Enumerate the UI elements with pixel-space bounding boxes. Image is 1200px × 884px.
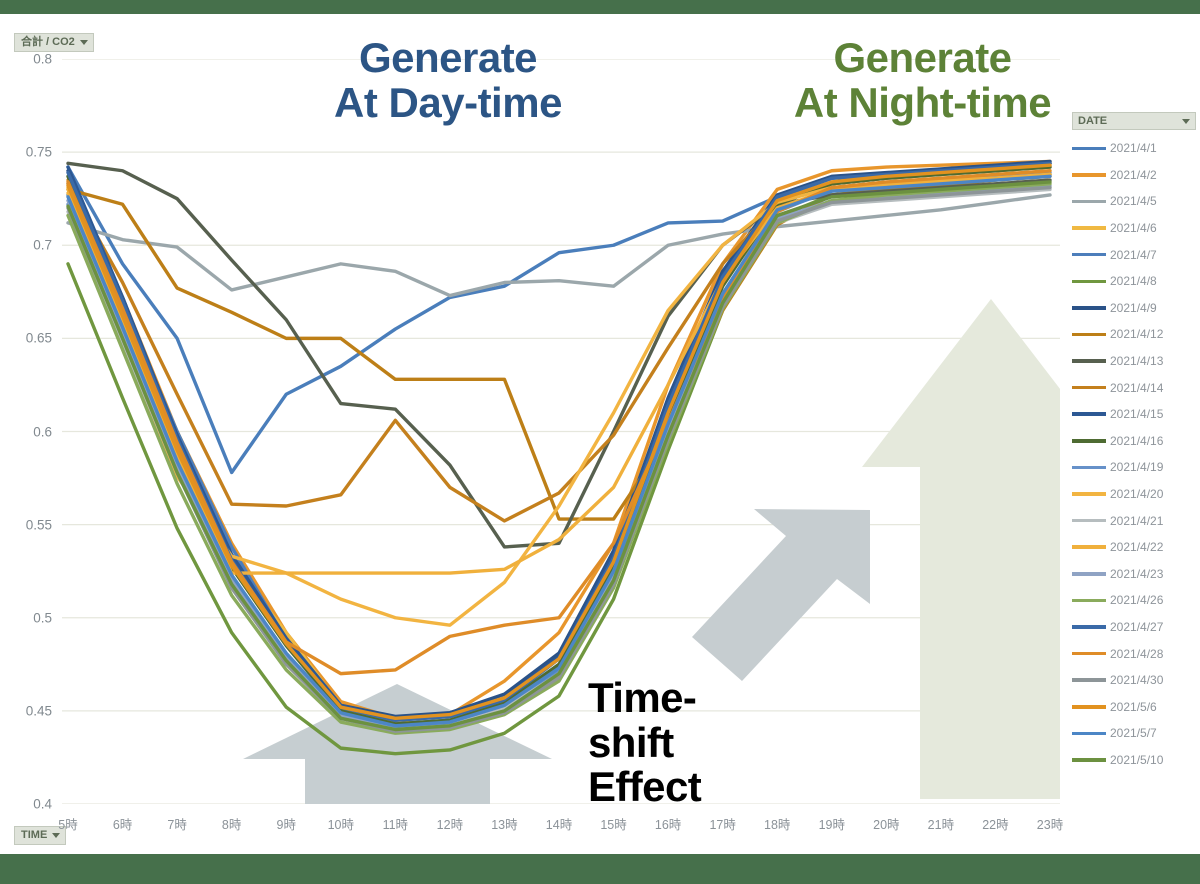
- legend-color-swatch: [1072, 147, 1106, 151]
- y-axis-tick-label: 0.6: [4, 424, 52, 439]
- legend-color-swatch: [1072, 306, 1106, 310]
- legend-item[interactable]: 2021/4/12: [1072, 321, 1196, 348]
- x-axis-tick-label: 22時: [982, 814, 1008, 833]
- x-axis-tick-label: 23時: [1037, 814, 1063, 833]
- x-axis-tick-label: 15時: [600, 814, 626, 833]
- legend-color-swatch: [1072, 519, 1106, 523]
- annotation-generate-day: Generate At Day-time: [268, 36, 628, 125]
- x-axis-tick-label: 19時: [819, 814, 845, 833]
- legend-item[interactable]: 2021/4/2: [1072, 162, 1196, 189]
- legend-title: DATE: [1078, 115, 1107, 127]
- x-axis-tick-label: 17時: [709, 814, 735, 833]
- legend-color-swatch: [1072, 333, 1106, 337]
- legend-item-label: 2021/4/1: [1110, 141, 1157, 155]
- legend-color-swatch: [1072, 466, 1106, 470]
- legend-item[interactable]: 2021/4/6: [1072, 215, 1196, 242]
- legend-item[interactable]: 2021/4/26: [1072, 587, 1196, 614]
- y-axis-tick-label: 0.7: [4, 238, 52, 253]
- legend-color-swatch: [1072, 625, 1106, 629]
- legend-item[interactable]: 2021/4/8: [1072, 268, 1196, 295]
- legend-item-label: 2021/4/28: [1110, 647, 1163, 661]
- y-axis-tick-label: 0.55: [4, 517, 52, 532]
- legend-color-swatch: [1072, 705, 1106, 709]
- legend-item[interactable]: 2021/4/30: [1072, 667, 1196, 694]
- legend-color-swatch: [1072, 572, 1106, 576]
- legend-color-swatch: [1072, 359, 1106, 363]
- y-axis-tick-label: 0.5: [4, 610, 52, 625]
- chart-svg: [62, 59, 1060, 804]
- legend-item-label: 2021/4/2: [1110, 168, 1157, 182]
- legend-item-label: 2021/5/6: [1110, 700, 1157, 714]
- legend-item-label: 2021/5/7: [1110, 726, 1157, 740]
- x-axis-tick-label: 16時: [655, 814, 681, 833]
- y-axis-tick-label: 0.75: [4, 145, 52, 160]
- legend-color-swatch: [1072, 280, 1106, 284]
- pivot-field-time-button[interactable]: TIME: [14, 826, 66, 845]
- legend-color-swatch: [1072, 492, 1106, 496]
- y-axis-tick-label: 0.4: [4, 797, 52, 812]
- legend-color-swatch: [1072, 758, 1106, 762]
- legend-color-swatch: [1072, 439, 1106, 443]
- legend-item[interactable]: 2021/4/15: [1072, 401, 1196, 428]
- series-line: [68, 163, 1050, 547]
- legend-item-label: 2021/4/19: [1110, 460, 1163, 474]
- legend-item-label: 2021/4/21: [1110, 514, 1163, 528]
- y-axis-tick-label: 0.8: [4, 52, 52, 67]
- legend-item[interactable]: 2021/5/10: [1072, 747, 1196, 774]
- y-axis-tick-label: 0.45: [4, 703, 52, 718]
- legend-color-swatch: [1072, 412, 1106, 416]
- y-axis-tick-label: 0.65: [4, 331, 52, 346]
- excel-chart-sheet: 合計 / CO2 TIME 0.40.450.50.550.60.650.70.…: [0, 14, 1200, 854]
- legend-item[interactable]: 2021/4/20: [1072, 481, 1196, 508]
- legend-item-label: 2021/4/15: [1110, 407, 1163, 421]
- chevron-down-icon: [80, 40, 88, 45]
- legend-item-label: 2021/4/26: [1110, 593, 1163, 607]
- x-axis-tick-label: 18時: [764, 814, 790, 833]
- legend-color-swatch: [1072, 599, 1106, 603]
- legend-item-label: 2021/4/8: [1110, 274, 1157, 288]
- pivot-field-time-label: TIME: [21, 829, 47, 842]
- x-axis-tick-label: 11時: [383, 814, 408, 833]
- legend-item[interactable]: 2021/4/7: [1072, 241, 1196, 268]
- legend-item[interactable]: 2021/4/5: [1072, 188, 1196, 215]
- legend-item-label: 2021/4/9: [1110, 301, 1157, 315]
- annotation-generate-night: Generate At Night-time: [750, 36, 1095, 125]
- diagonal-up-right-arrow-shape: [692, 509, 870, 681]
- legend-item[interactable]: 2021/4/14: [1072, 374, 1196, 401]
- legend-item[interactable]: 2021/5/6: [1072, 693, 1196, 720]
- legend-color-swatch: [1072, 386, 1106, 390]
- chevron-down-icon: [1182, 119, 1190, 124]
- x-axis-tick-label: 12時: [437, 814, 463, 833]
- legend-item-label: 2021/4/30: [1110, 673, 1163, 687]
- legend-color-swatch: [1072, 678, 1106, 682]
- chevron-down-icon: [52, 833, 60, 838]
- x-axis-tick-label: 7時: [167, 814, 186, 833]
- legend-item-label: 2021/4/7: [1110, 248, 1157, 262]
- legend-color-swatch: [1072, 545, 1106, 549]
- legend-color-swatch: [1072, 173, 1106, 177]
- legend-item[interactable]: 2021/4/27: [1072, 614, 1196, 641]
- legend-item[interactable]: 2021/4/9: [1072, 295, 1196, 322]
- legend-color-swatch: [1072, 732, 1106, 736]
- x-axis-tick-label: 8時: [222, 814, 241, 833]
- x-axis-tick-label: 20時: [873, 814, 899, 833]
- legend-field-date-button[interactable]: DATE: [1072, 112, 1196, 130]
- legend-color-swatch: [1072, 652, 1106, 656]
- up-arrow-shape-large: [862, 299, 1060, 799]
- legend-item-label: 2021/4/14: [1110, 381, 1163, 395]
- chart-legend: DATE 2021/4/12021/4/22021/4/52021/4/6202…: [1072, 112, 1196, 773]
- legend-entry-list: 2021/4/12021/4/22021/4/52021/4/62021/4/7…: [1072, 135, 1196, 773]
- x-axis-tick-label: 10時: [328, 814, 354, 833]
- x-axis-tick-label: 13時: [491, 814, 517, 833]
- pivot-field-value-label: 合計 / CO2: [21, 36, 75, 49]
- legend-item-label: 2021/4/5: [1110, 194, 1157, 208]
- legend-item-label: 2021/4/23: [1110, 567, 1163, 581]
- legend-color-swatch: [1072, 226, 1106, 230]
- legend-color-swatch: [1072, 253, 1106, 257]
- legend-item[interactable]: 2021/4/21: [1072, 507, 1196, 534]
- legend-item-label: 2021/4/20: [1110, 487, 1163, 501]
- legend-item-label: 2021/4/22: [1110, 540, 1163, 554]
- legend-item-label: 2021/4/6: [1110, 221, 1157, 235]
- pivot-field-value-button[interactable]: 合計 / CO2: [14, 33, 94, 52]
- legend-item[interactable]: 2021/4/13: [1072, 348, 1196, 375]
- legend-item-label: 2021/4/13: [1110, 354, 1163, 368]
- x-axis-tick-label: 6時: [113, 814, 132, 833]
- chart-plot-area: [62, 59, 1060, 804]
- x-axis-tick-label: 21時: [928, 814, 954, 833]
- annotation-timeshift-effect: Time- shift Effect: [588, 676, 778, 810]
- legend-item[interactable]: 2021/4/1: [1072, 135, 1196, 162]
- legend-item-label: 2021/4/27: [1110, 620, 1163, 634]
- screenshot-root: 合計 / CO2 TIME 0.40.450.50.550.60.650.70.…: [0, 0, 1200, 884]
- legend-item-label: 2021/4/16: [1110, 434, 1163, 448]
- legend-item[interactable]: 2021/4/28: [1072, 640, 1196, 667]
- legend-item-label: 2021/4/12: [1110, 327, 1163, 341]
- legend-color-swatch: [1072, 200, 1106, 204]
- x-axis-tick-label: 14時: [546, 814, 572, 833]
- legend-item[interactable]: 2021/4/19: [1072, 454, 1196, 481]
- x-axis-tick-label: 9時: [276, 814, 295, 833]
- legend-item[interactable]: 2021/4/16: [1072, 428, 1196, 455]
- series-line: [68, 167, 1050, 521]
- legend-item[interactable]: 2021/5/7: [1072, 720, 1196, 747]
- legend-item[interactable]: 2021/4/23: [1072, 561, 1196, 588]
- legend-item[interactable]: 2021/4/22: [1072, 534, 1196, 561]
- legend-item-label: 2021/5/10: [1110, 753, 1163, 767]
